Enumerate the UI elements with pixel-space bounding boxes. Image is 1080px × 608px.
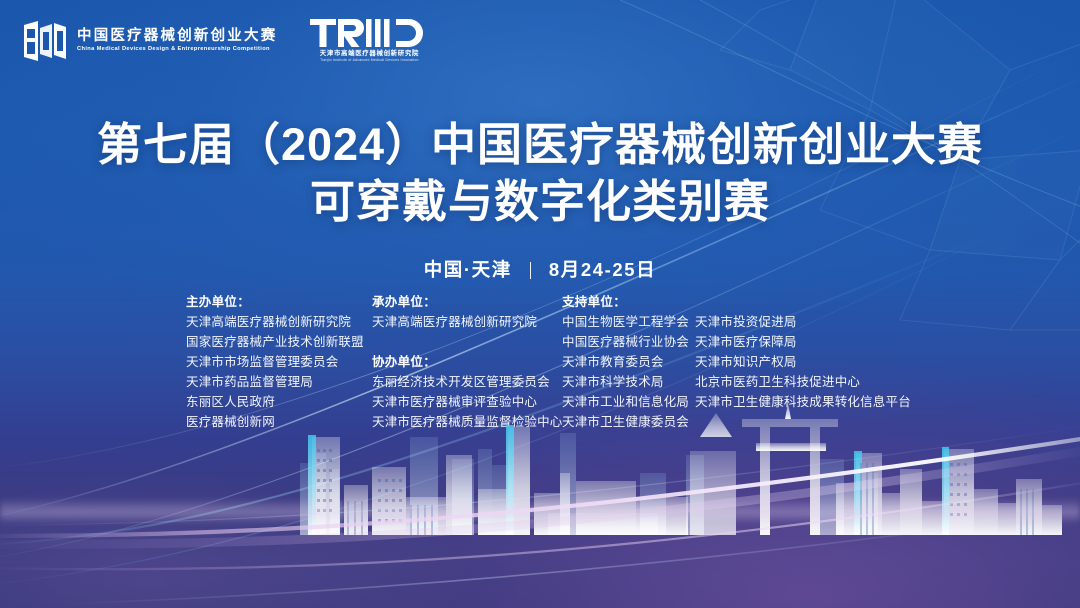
title-line-1: 第七届（2024）中国医疗器械创新创业大赛 [0,118,1080,171]
col3-item: 天津市科学技术局 [562,372,695,392]
logo-secondary: 天津市高端医疗器械创新研究院 Tianjin Institute of Adva… [306,18,428,63]
col2-spacer [372,332,562,352]
col4-item: 天津市投资促进局 [695,312,915,332]
logo-divider [291,21,292,61]
col4-heading [695,292,915,312]
subtitle-date: 8月24-25日 [549,259,656,280]
col1-item: 国家医疗器械产业技术创新联盟 [186,332,372,352]
col3-heading: 支持单位： [562,292,695,312]
purple-light-swoosh [0,418,1080,608]
col3-item: 中国生物医学工程学会 [562,312,695,332]
logo-primary: 中国医疗器械创新创业大赛 China Medical Devices Desig… [22,19,277,63]
col3-item: 中国医疗器械行业协会 [562,332,695,352]
header-logos: 中国医疗器械创新创业大赛 China Medical Devices Desig… [22,18,428,63]
col2-item: 东丽经济技术开发区管理委员会 [372,372,562,392]
poster-subtitle: 中国·天津 8月24-25日 [0,256,1080,282]
col1-item: 天津市市场监督管理委员会 [186,352,372,372]
col1-item: 天津高端医疗器械创新研究院 [186,312,372,332]
title-line-2: 可穿戴与数字化类别赛 [0,175,1080,228]
col4-item: 天津市医疗保障局 [695,332,915,352]
logo-primary-text: 中国医疗器械创新创业大赛 China Medical Devices Desig… [77,29,277,53]
trmd-wordmark-icon [310,18,428,48]
col1-heading: 主办单位： [186,292,372,312]
col1-item: 天津市药品监督管理局 [186,372,372,392]
col3-item: 天津市教育委员会 [562,352,695,372]
col2-heading-1: 承办单位： [372,292,562,312]
subtitle-separator [530,262,532,279]
subtitle-location: 中国·天津 [424,259,512,280]
poster-title: 第七届（2024）中国医疗器械创新创业大赛 可穿戴与数字化类别赛 [0,118,1080,228]
logo-primary-title-en: China Medical Devices Design & Entrepren… [77,46,281,52]
poster-canvas: 中国医疗器械创新创业大赛 China Medical Devices Desig… [0,0,1080,608]
logo-secondary-title-cn: 天津市高端医疗器械创新研究院 [320,50,419,57]
logo-secondary-title-en: Tianjin Institute of Advanced Medical De… [320,59,419,63]
col4-item: 北京市医药卫生科技促进中心 [695,372,915,392]
open-door-book-logo-icon [22,19,68,63]
logo-primary-title-cn: 中国医疗器械创新创业大赛 [77,29,277,45]
col4-item: 天津市知识产权局 [695,352,915,372]
col2-heading-2: 协办单位： [372,352,562,372]
col2-item: 天津高端医疗器械创新研究院 [372,312,562,332]
